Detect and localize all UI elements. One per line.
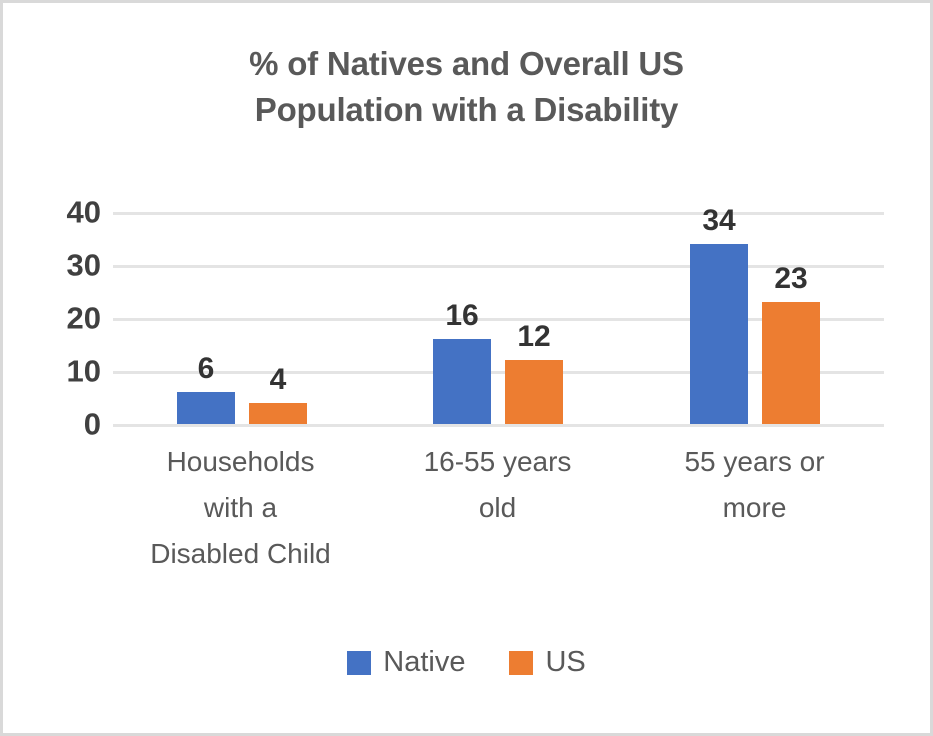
data-label-us-55-plus: 23: [762, 264, 820, 294]
bar-us-55-plus[interactable]: [762, 302, 820, 424]
legend-label-native: Native: [383, 648, 465, 677]
y-tick-10: 10: [21, 356, 101, 387]
data-label-native-55-plus: 34: [690, 206, 748, 236]
x-label-households: Households with a Disabled Child: [108, 439, 373, 577]
bar-chart: % of Natives and Overall US Population w…: [0, 0, 933, 736]
bar-native-55-plus[interactable]: [690, 244, 748, 424]
y-axis: 40 30 20 10 0: [21, 212, 101, 424]
legend-label-us: US: [545, 648, 585, 677]
legend-item-native[interactable]: Native: [347, 648, 465, 677]
data-label-us-16-55: 12: [505, 322, 563, 352]
data-label-native-households: 6: [177, 354, 235, 384]
y-tick-20: 20: [21, 303, 101, 334]
bar-native-16-55[interactable]: [433, 339, 491, 424]
data-label-native-16-55: 16: [433, 301, 491, 331]
data-label-us-households: 4: [249, 365, 307, 395]
y-tick-40: 40: [21, 197, 101, 228]
chart-title: % of Natives and Overall US Population w…: [3, 41, 930, 133]
y-tick-30: 30: [21, 250, 101, 281]
chart-legend: Native US: [3, 648, 930, 677]
legend-swatch-icon-native: [347, 651, 371, 675]
legend-swatch-icon-us: [509, 651, 533, 675]
bar-us-16-55[interactable]: [505, 360, 563, 424]
x-label-55-plus: 55 years or more: [622, 439, 887, 531]
bar-us-households[interactable]: [249, 403, 307, 424]
y-tick-0: 0: [21, 409, 101, 440]
plot-area: 6 4 16 12 34 23: [113, 212, 884, 424]
x-label-16-55: 16-55 years old: [365, 439, 630, 531]
legend-item-us[interactable]: US: [509, 648, 585, 677]
gridline-0: [113, 424, 884, 427]
bar-native-households[interactable]: [177, 392, 235, 424]
gridline-40: [113, 212, 884, 215]
x-axis: Households with a Disabled Child 16-55 y…: [113, 439, 884, 609]
